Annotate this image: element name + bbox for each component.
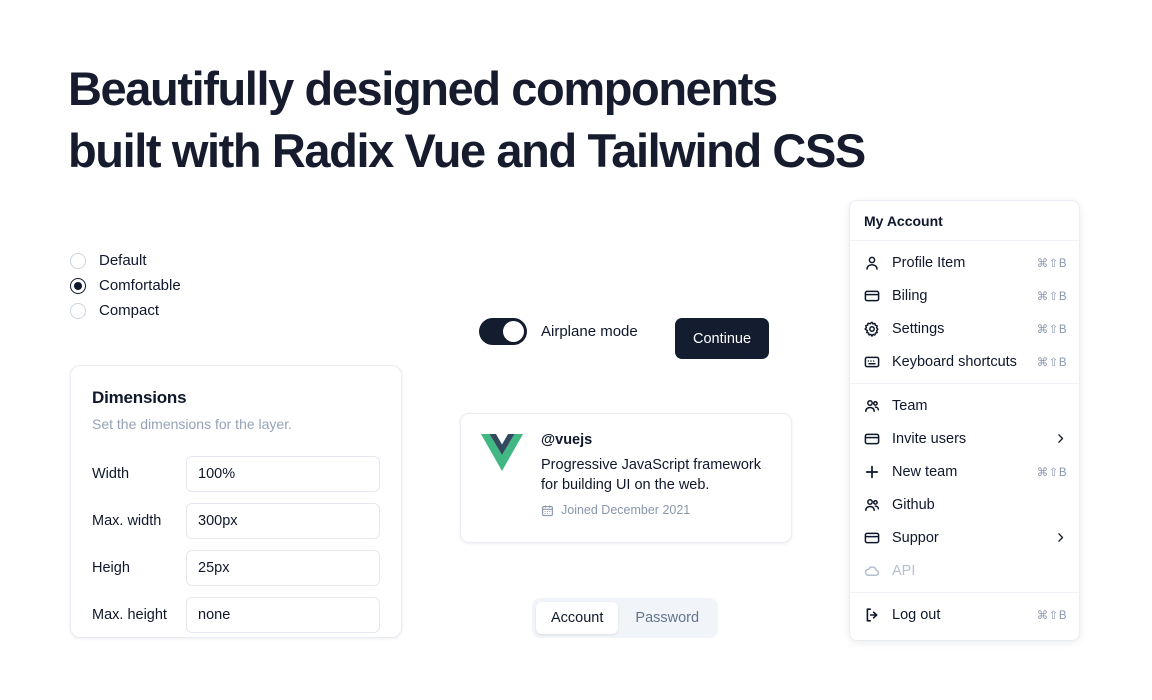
field-label: Max. width bbox=[92, 513, 186, 529]
height-input[interactable] bbox=[186, 550, 380, 586]
chevron-right-icon bbox=[1054, 531, 1067, 544]
airplane-mode-label: Airplane mode bbox=[541, 323, 638, 340]
vue-description: Progressive JavaScript framework for bui… bbox=[541, 455, 773, 495]
vue-handle: @vuejs bbox=[541, 432, 773, 448]
menu-item-support[interactable]: Suppor bbox=[850, 521, 1079, 554]
menu-item-label: Keyboard shortcuts bbox=[892, 354, 1025, 370]
users-icon bbox=[864, 497, 880, 513]
dimensions-fields: Width Max. width Heigh Max. height bbox=[92, 450, 380, 638]
vue-logo-icon bbox=[481, 432, 523, 526]
menu-item-label: Github bbox=[892, 497, 1055, 513]
menu-item-label: Suppor bbox=[892, 530, 1042, 546]
radio-label: Default bbox=[99, 252, 147, 269]
dimensions-card-description: Set the dimensions for the layer. bbox=[92, 416, 380, 432]
logout-icon bbox=[864, 607, 880, 623]
menu-item-shortcut: ⌘⇧B bbox=[1037, 608, 1067, 622]
menu-item-label: Profile Item bbox=[892, 255, 1025, 271]
tab-password[interactable]: Password bbox=[620, 602, 714, 634]
menu-item-log-out[interactable]: Log out ⌘⇧B bbox=[850, 598, 1079, 631]
menu-item-billing[interactable]: Biling ⌘⇧B bbox=[850, 279, 1079, 312]
menu-item-invite-users[interactable]: Invite users bbox=[850, 422, 1079, 455]
page-title: Beautifully designed components built wi… bbox=[68, 58, 1068, 182]
max-width-input[interactable] bbox=[186, 503, 380, 539]
menu-item-label: Team bbox=[892, 398, 1055, 414]
radio-label: Compact bbox=[99, 302, 159, 319]
max-height-input[interactable] bbox=[186, 597, 380, 633]
field-label: Heigh bbox=[92, 560, 186, 576]
menu-item-shortcut: ⌘⇧B bbox=[1037, 256, 1067, 270]
credit-card-icon bbox=[864, 288, 880, 304]
switch-knob bbox=[503, 321, 524, 342]
tab-account[interactable]: Account bbox=[536, 602, 618, 634]
field-row-width: Width bbox=[92, 450, 380, 497]
menu-item-keyboard-shortcuts[interactable]: Keyboard shortcuts ⌘⇧B bbox=[850, 345, 1079, 378]
menu-header: My Account bbox=[850, 201, 1079, 240]
vue-joined-row: Joined December 2021 bbox=[541, 503, 773, 517]
plus-icon bbox=[864, 464, 880, 480]
tabs: Account Password bbox=[532, 598, 718, 638]
field-row-max-width: Max. width bbox=[92, 497, 380, 544]
chevron-right-icon bbox=[1054, 432, 1067, 445]
menu-item-shortcut: ⌘⇧B bbox=[1037, 355, 1067, 369]
radio-circle-icon bbox=[70, 303, 86, 319]
menu-item-settings[interactable]: Settings ⌘⇧B bbox=[850, 312, 1079, 345]
menu-group-team: Team Invite users New team ⌘⇧B bbox=[850, 384, 1079, 592]
credit-card-icon bbox=[864, 431, 880, 447]
field-row-height: Heigh bbox=[92, 544, 380, 591]
menu-item-github[interactable]: Github bbox=[850, 488, 1079, 521]
cloud-icon bbox=[864, 563, 880, 579]
field-row-max-height: Max. height bbox=[92, 591, 380, 638]
radio-circle-icon bbox=[70, 278, 86, 294]
menu-item-label: Log out bbox=[892, 607, 1025, 623]
menu-group-session: Log out ⌘⇧B bbox=[850, 593, 1079, 636]
menu-item-label: Settings bbox=[892, 321, 1025, 337]
menu-item-new-team[interactable]: New team ⌘⇧B bbox=[850, 455, 1079, 488]
keyboard-icon bbox=[864, 354, 880, 370]
density-radio-group: Default Comfortable Compact bbox=[70, 248, 300, 323]
menu-item-shortcut: ⌘⇧B bbox=[1037, 289, 1067, 303]
user-icon bbox=[864, 255, 880, 271]
airplane-mode-row: Airplane mode bbox=[479, 318, 638, 345]
calendar-icon bbox=[541, 504, 554, 517]
vue-profile-card: @vuejs Progressive JavaScript framework … bbox=[460, 413, 792, 543]
menu-item-label: Biling bbox=[892, 288, 1025, 304]
page-title-line-2: built with Radix Vue and Tailwind CSS bbox=[68, 120, 1068, 182]
field-label: Width bbox=[92, 466, 186, 482]
vue-card-body: @vuejs Progressive JavaScript framework … bbox=[541, 432, 773, 526]
field-label: Max. height bbox=[92, 607, 186, 623]
menu-item-label: Invite users bbox=[892, 431, 1042, 447]
gear-icon bbox=[864, 321, 880, 337]
menu-item-profile[interactable]: Profile Item ⌘⇧B bbox=[850, 246, 1079, 279]
radio-option-compact[interactable]: Compact bbox=[70, 298, 300, 323]
menu-item-shortcut: ⌘⇧B bbox=[1037, 465, 1067, 479]
vue-joined-text: Joined December 2021 bbox=[561, 503, 690, 517]
width-input[interactable] bbox=[186, 456, 380, 492]
menu-group-account: Profile Item ⌘⇧B Biling ⌘⇧B Settings ⌘⇧B bbox=[850, 241, 1079, 383]
menu-item-shortcut: ⌘⇧B bbox=[1037, 322, 1067, 336]
dimensions-card-title: Dimensions bbox=[92, 388, 380, 408]
account-dropdown-menu: My Account Profile Item ⌘⇧B Biling ⌘⇧B bbox=[849, 200, 1080, 641]
menu-item-api: API bbox=[850, 554, 1079, 587]
credit-card-icon bbox=[864, 530, 880, 546]
users-icon bbox=[864, 398, 880, 414]
radio-label: Comfortable bbox=[99, 277, 181, 294]
airplane-mode-switch[interactable] bbox=[479, 318, 527, 345]
menu-item-team[interactable]: Team bbox=[850, 389, 1079, 422]
dimensions-card: Dimensions Set the dimensions for the la… bbox=[70, 365, 402, 638]
menu-item-label: API bbox=[892, 563, 1055, 579]
continue-button[interactable]: Continue bbox=[675, 318, 769, 359]
page-title-line-1: Beautifully designed components bbox=[68, 58, 1068, 120]
menu-item-label: New team bbox=[892, 464, 1025, 480]
radio-option-default[interactable]: Default bbox=[70, 248, 300, 273]
radio-option-comfortable[interactable]: Comfortable bbox=[70, 273, 300, 298]
radio-circle-icon bbox=[70, 253, 86, 269]
